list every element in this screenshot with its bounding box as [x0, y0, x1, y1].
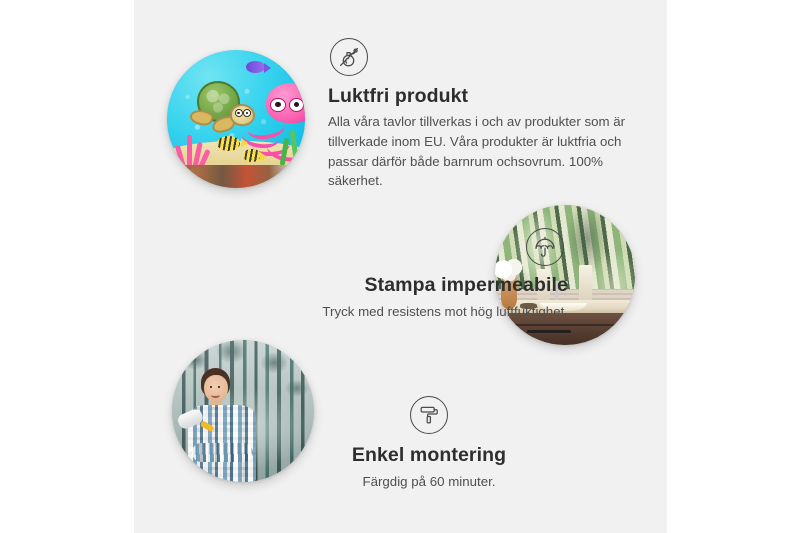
cabinet-seam	[509, 324, 635, 326]
umbrella-icon	[526, 228, 564, 266]
underwater-artwork	[167, 50, 305, 188]
fish-tail	[264, 63, 271, 73]
room-foreground-strip	[167, 165, 305, 188]
feature-description: Alla våra tavlor tillverkas i och av pro…	[328, 112, 628, 191]
drawer-handle	[527, 330, 571, 333]
roller-handle	[200, 421, 215, 433]
toiletry-bottle	[579, 265, 592, 301]
turtle-eye	[243, 109, 251, 117]
fish-illustration	[217, 136, 240, 151]
woman-smile	[211, 393, 220, 398]
content-panel: Luktfri produkt Alla våra tavlor tillver…	[134, 0, 667, 533]
fish-tail	[241, 138, 248, 148]
door-handle	[621, 321, 625, 335]
octopus-eye	[270, 98, 285, 112]
fish-tail	[260, 152, 267, 162]
octopus-illustration	[255, 83, 305, 155]
octopus-eye	[289, 98, 304, 112]
coral-illustration	[175, 130, 214, 169]
fish-illustration	[243, 149, 261, 161]
feature-title: Luktfri produkt	[328, 85, 628, 108]
feature-block-odorless: Luktfri produkt Alla våra tavlor tillver…	[328, 38, 628, 191]
woman-decorator	[186, 368, 260, 482]
forest-artwork	[172, 340, 314, 482]
turtle-eye	[235, 109, 243, 117]
fish-body	[243, 149, 261, 161]
octopus-head	[266, 83, 305, 123]
infographic-canvas: Luktfri produkt Alla våra tavlor tillver…	[0, 0, 800, 533]
feature-title: Enkel montering	[304, 444, 554, 467]
no-spray-bottle-icon	[330, 38, 368, 76]
feature-description: Tryck med resistens mot hög luftfuktighe…	[208, 302, 568, 322]
paint-roller-icon	[410, 396, 448, 434]
fish-body	[246, 61, 265, 73]
fish-body	[217, 136, 240, 151]
feature-description: Färgdig på 60 minuter.	[304, 472, 554, 492]
woman-eye	[210, 386, 213, 388]
feature-title: Stampa impermeabile	[208, 274, 568, 297]
photo-underwater-cartoon-mural	[167, 50, 305, 188]
photo-woman-with-paint-roller-forest-mural	[172, 340, 314, 482]
feature-block-waterproof: Stampa impermeabile Tryck med resistens …	[208, 228, 568, 322]
woman-eye	[218, 386, 221, 388]
fish-illustration	[246, 61, 265, 73]
feature-block-easy-mounting: Enkel montering Färgdig på 60 minuter.	[304, 396, 554, 492]
